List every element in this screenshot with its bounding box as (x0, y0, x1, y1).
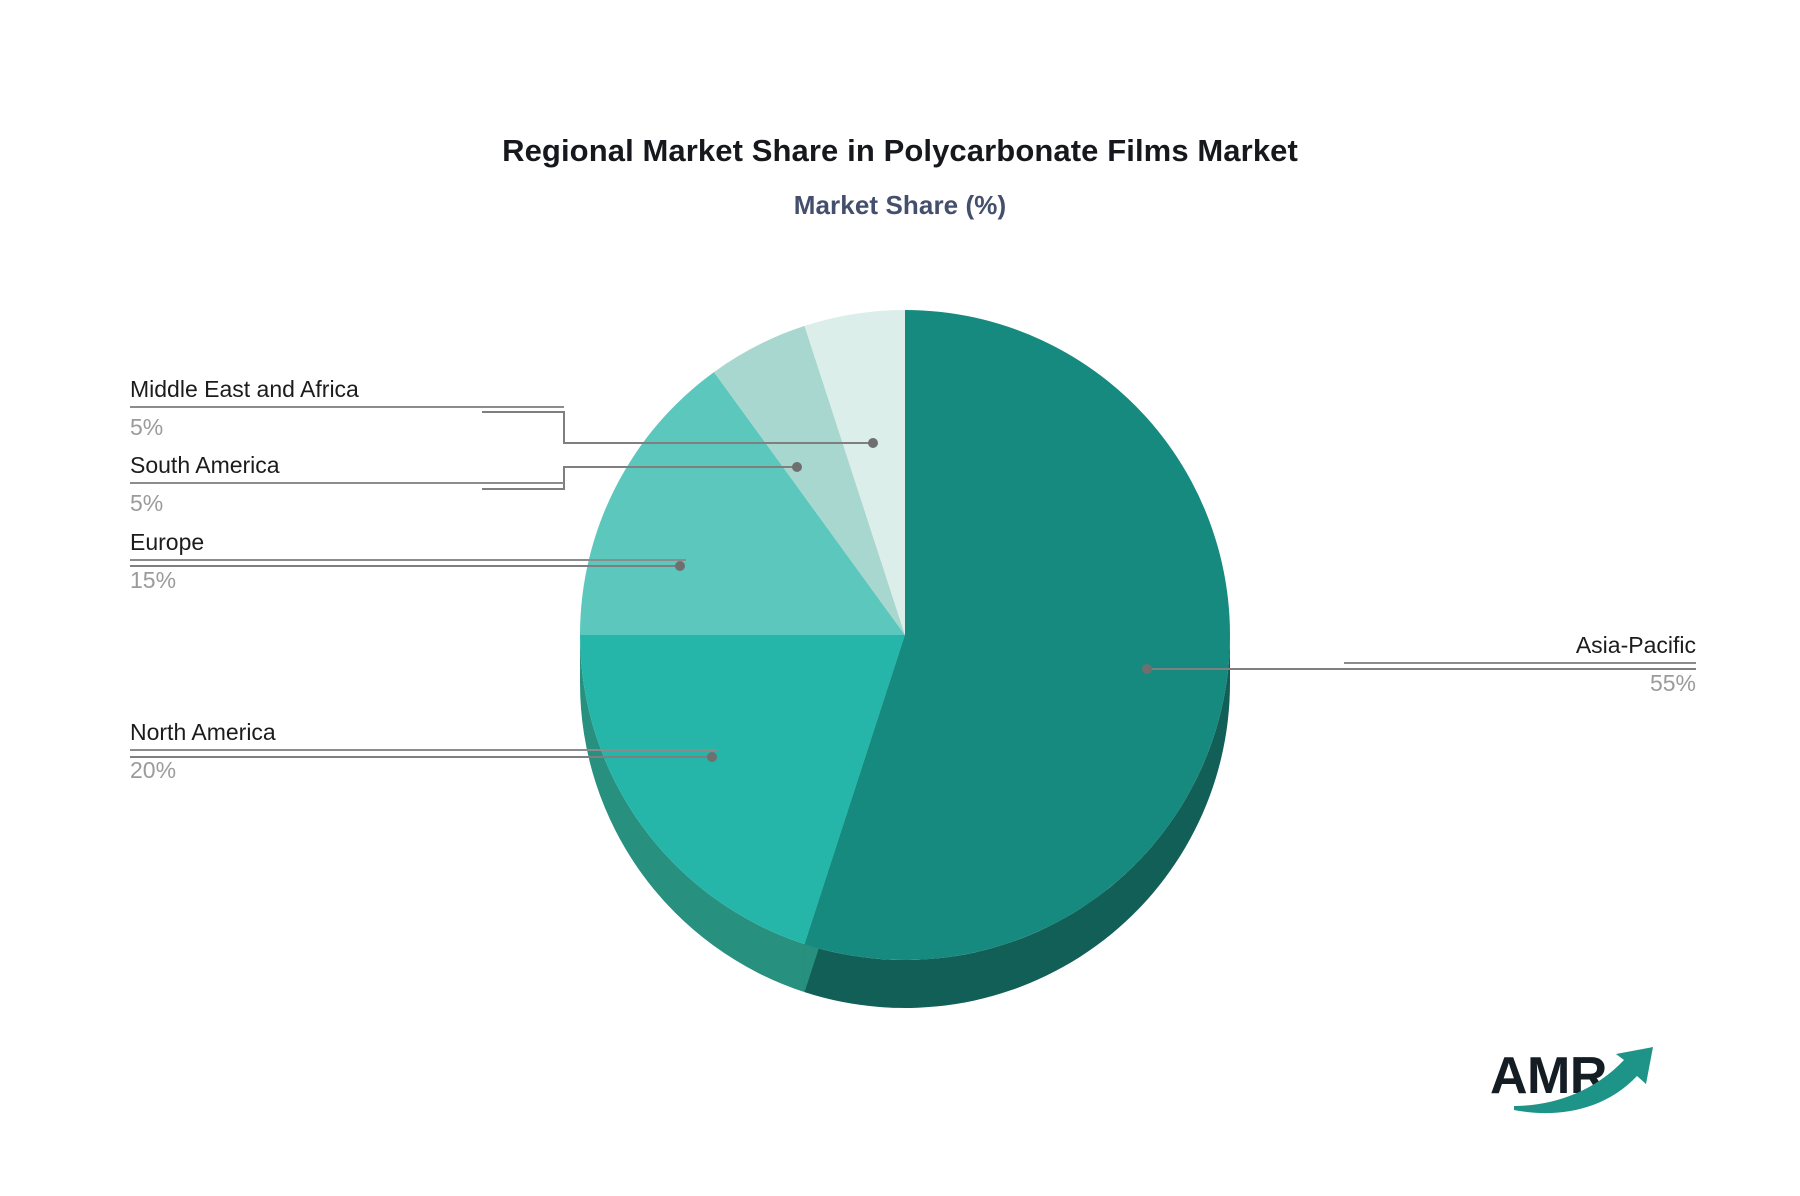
callout-value: 5% (130, 484, 564, 519)
callout-label: North America (130, 717, 718, 747)
leader-lines (0, 0, 1800, 1196)
chart-canvas: Regional Market Share in Polycarbonate F… (0, 0, 1800, 1196)
callout-north-america[interactable]: North America 20% (130, 717, 718, 786)
callout-value: 15% (130, 561, 686, 596)
callout-europe[interactable]: Europe 15% (130, 527, 686, 596)
callout-label: Europe (130, 527, 686, 557)
callout-label: Middle East and Africa (130, 374, 564, 404)
callout-value: 5% (130, 408, 564, 443)
callout-label: South America (130, 450, 564, 480)
growth-arrow-icon (1490, 1040, 1680, 1120)
leader-south-america-dot (792, 462, 802, 472)
callout-value: 55% (1344, 664, 1696, 699)
callout-label: Asia-Pacific (1344, 630, 1696, 660)
leader-asia-pacific-dot (1142, 664, 1152, 674)
callout-value: 20% (130, 751, 718, 786)
amr-logo: AMR (1490, 1040, 1680, 1120)
callout-asia-pacific[interactable]: Asia-Pacific 55% (1344, 630, 1696, 699)
leader-middle-east-and-africa-dot (868, 438, 878, 448)
callout-middle-east-and-africa[interactable]: Middle East and Africa 5% (130, 374, 564, 443)
callout-south-america[interactable]: South America 5% (130, 450, 564, 519)
